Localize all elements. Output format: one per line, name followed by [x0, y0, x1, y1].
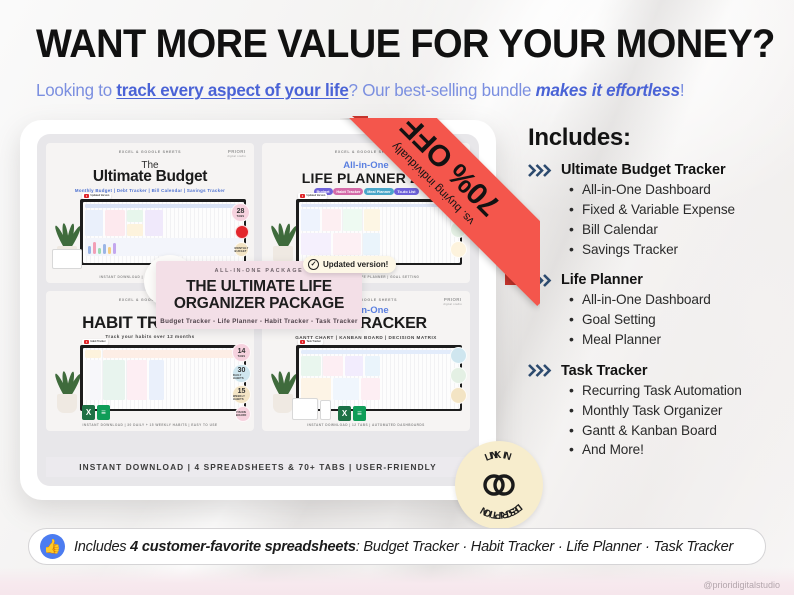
- badge-goal: [450, 221, 467, 238]
- badge-kanban: [450, 367, 467, 384]
- plant-decoration: [268, 219, 298, 265]
- badge-checklist: [450, 241, 467, 258]
- includes-heading: Includes:: [528, 124, 786, 152]
- pill-habit: Habit Tracker: [333, 188, 363, 195]
- card-subline: Track your habits over 12 months: [46, 334, 254, 339]
- list-item: Monthly Task Organizer: [569, 401, 786, 421]
- card-subline: Monthly Budget | Debt Tracker | Bill Cal…: [46, 188, 254, 193]
- list-item: All-in-One Dashboard: [569, 290, 786, 310]
- includes-group-list: All-in-One Dashboard Goal Setting Meal P…: [569, 290, 786, 350]
- overlay-title: THE ULTIMATE LIFE ORGANIZER PACKAGE: [156, 278, 362, 313]
- subtitle-link[interactable]: track every aspect of your life: [116, 80, 348, 100]
- badge-matrix: [450, 387, 467, 404]
- pill-meal: Meal Planner: [364, 188, 393, 195]
- bottom-info-bar: 👍 Includes 4 customer-favorite spreadshe…: [28, 528, 766, 565]
- list-item: All-in-One Dashboard: [569, 180, 786, 200]
- bottom-pre: Includes: [74, 539, 130, 555]
- youtube-chip[interactable]: Habit Tracker: [82, 339, 108, 345]
- badge-tabs: 28TABS: [231, 203, 250, 222]
- includes-panel: Includes: Ultimate Budget Tracker All-in…: [528, 124, 786, 460]
- subtitle-post: !: [680, 80, 684, 100]
- includes-group-title: Ultimate Budget Tracker: [561, 162, 726, 178]
- bottom-bar-text: Includes 4 customer-favorite spreadsheet…: [74, 539, 733, 555]
- badge-weekly: 15WEEKLY HABITS: [232, 385, 251, 404]
- card-pills: BudgetHabit TrackerMeal PlannerTo-do Lis…: [262, 188, 470, 195]
- includes-group-task-tracker: Task Tracker Recurring Task Automation M…: [528, 363, 786, 460]
- overlay-items: Budget Tracker - Life Planner - Habit Tr…: [156, 318, 362, 325]
- page-subtitle: Looking to track every aspect of your li…: [36, 80, 684, 101]
- list-item: Gantt & Kanban Board: [569, 421, 786, 441]
- includes-group-list: Recurring Task Automation Monthly Task O…: [569, 381, 786, 460]
- badge-youtube: [235, 225, 249, 239]
- thumbs-up-icon: 👍: [40, 534, 65, 559]
- subtitle-emphasis: makes it effortless: [536, 80, 680, 100]
- list-item: Savings Tracker: [569, 240, 786, 260]
- includes-group-title: Task Tracker: [561, 363, 647, 379]
- excel-icon: X: [338, 406, 351, 421]
- list-item: Fixed & Variable Expense: [569, 200, 786, 220]
- includes-group-budget: Ultimate Budget Tracker All-in-One Dashb…: [528, 162, 786, 259]
- youtube-chip[interactable]: Updated Version: [298, 193, 327, 199]
- card-footer: INSTANT DOWNLOAD | 30 DAILY + 15 WEEKLY …: [46, 423, 254, 427]
- bottom-tint: [0, 567, 794, 595]
- chain-link-icon: [479, 467, 519, 503]
- watermark: @prioridigitalstudio: [703, 580, 780, 590]
- mini-tablet-preview: [292, 398, 318, 420]
- play-icon: [300, 340, 305, 344]
- youtube-chip[interactable]: Updated Version: [82, 193, 111, 199]
- overlay-title-line2: ORGANIZER PACKAGE: [156, 295, 362, 312]
- includes-group-life-planner: Life Planner All-in-One Dashboard Goal S…: [528, 272, 786, 350]
- play-icon: [84, 194, 89, 198]
- chevron-triple-icon: [528, 164, 554, 177]
- overlay-title-line1: THE ULTIMATE LIFE: [156, 278, 362, 295]
- pill-todo: To-do List: [394, 188, 418, 195]
- updated-chip-label: Updated version!: [323, 260, 388, 269]
- bottom-post: : Budget Tracker · Habit Tracker · Life …: [356, 539, 733, 555]
- list-item: Goal Setting: [569, 310, 786, 330]
- card-title-line2: Ultimate Budget: [46, 168, 254, 186]
- youtube-chip[interactable]: Task Tracker: [298, 339, 323, 345]
- includes-group-title: Life Planner: [561, 272, 643, 288]
- brand-logo: PRIORI digital studio: [227, 149, 246, 158]
- feature-strip: INSTANT DOWNLOAD | 4 SPREADSHEETS & 70+ …: [46, 457, 470, 477]
- play-icon: [84, 340, 89, 344]
- updated-version-chip: ✓ Updated version!: [303, 256, 396, 273]
- list-item: Meal Planner: [569, 330, 786, 350]
- badge-tabs: 14TABS: [232, 343, 251, 362]
- badge-daily: 30DAILY HABITS: [232, 364, 251, 383]
- plant-decoration: [52, 367, 82, 413]
- chevron-triple-icon: [528, 364, 554, 377]
- check-circle-icon: ✓: [308, 259, 319, 270]
- sheets-icon: ≡: [97, 405, 110, 420]
- badge-vision: VISION BOARD: [235, 406, 251, 422]
- list-item: And More!: [569, 440, 786, 460]
- link-in-description-badge[interactable]: LINK INDESCRIPTION: [455, 441, 543, 529]
- bottom-bold: 4 customer-favorite spreadsheets: [130, 539, 356, 555]
- mini-tablet-preview: [52, 249, 82, 269]
- card-eyebrow: EXCEL & GOOGLE SHEETS: [262, 150, 470, 154]
- badge-dashboard: [450, 201, 467, 218]
- subtitle-mid: ? Our best-selling bundle: [349, 80, 536, 100]
- includes-group-list: All-in-One Dashboard Fixed & Variable Ex…: [569, 180, 786, 259]
- list-item: Bill Calendar: [569, 220, 786, 240]
- badge-gantt: [450, 347, 467, 364]
- excel-icon: X: [82, 405, 95, 420]
- sheets-icon: ≡: [353, 406, 366, 421]
- play-icon: [300, 194, 305, 198]
- subtitle-pre: Looking to: [36, 80, 116, 100]
- mini-phone-preview: [320, 400, 331, 420]
- card-footer: INSTANT DOWNLOAD | 12 TABS | AUTOMATED D…: [262, 423, 470, 427]
- card-title-line2: LIFE PLANNER 2.0: [262, 170, 470, 186]
- card-eyebrow: EXCEL & GOOGLE SHEETS: [46, 150, 254, 154]
- badge-monthly: MONTHLY BUDGET: [234, 242, 249, 257]
- card-subline: GANTT CHART | KANBAN BOARD | DECISION MA…: [262, 335, 470, 340]
- brand-logo: PRIORI digital studio: [443, 149, 462, 158]
- dashboard-preview: Habit Tracker: [80, 345, 246, 411]
- page-title: WANT MORE VALUE FOR YOUR MONEY?: [36, 22, 775, 67]
- chevron-triple-icon: [528, 274, 554, 287]
- list-item: Recurring Task Automation: [569, 381, 786, 401]
